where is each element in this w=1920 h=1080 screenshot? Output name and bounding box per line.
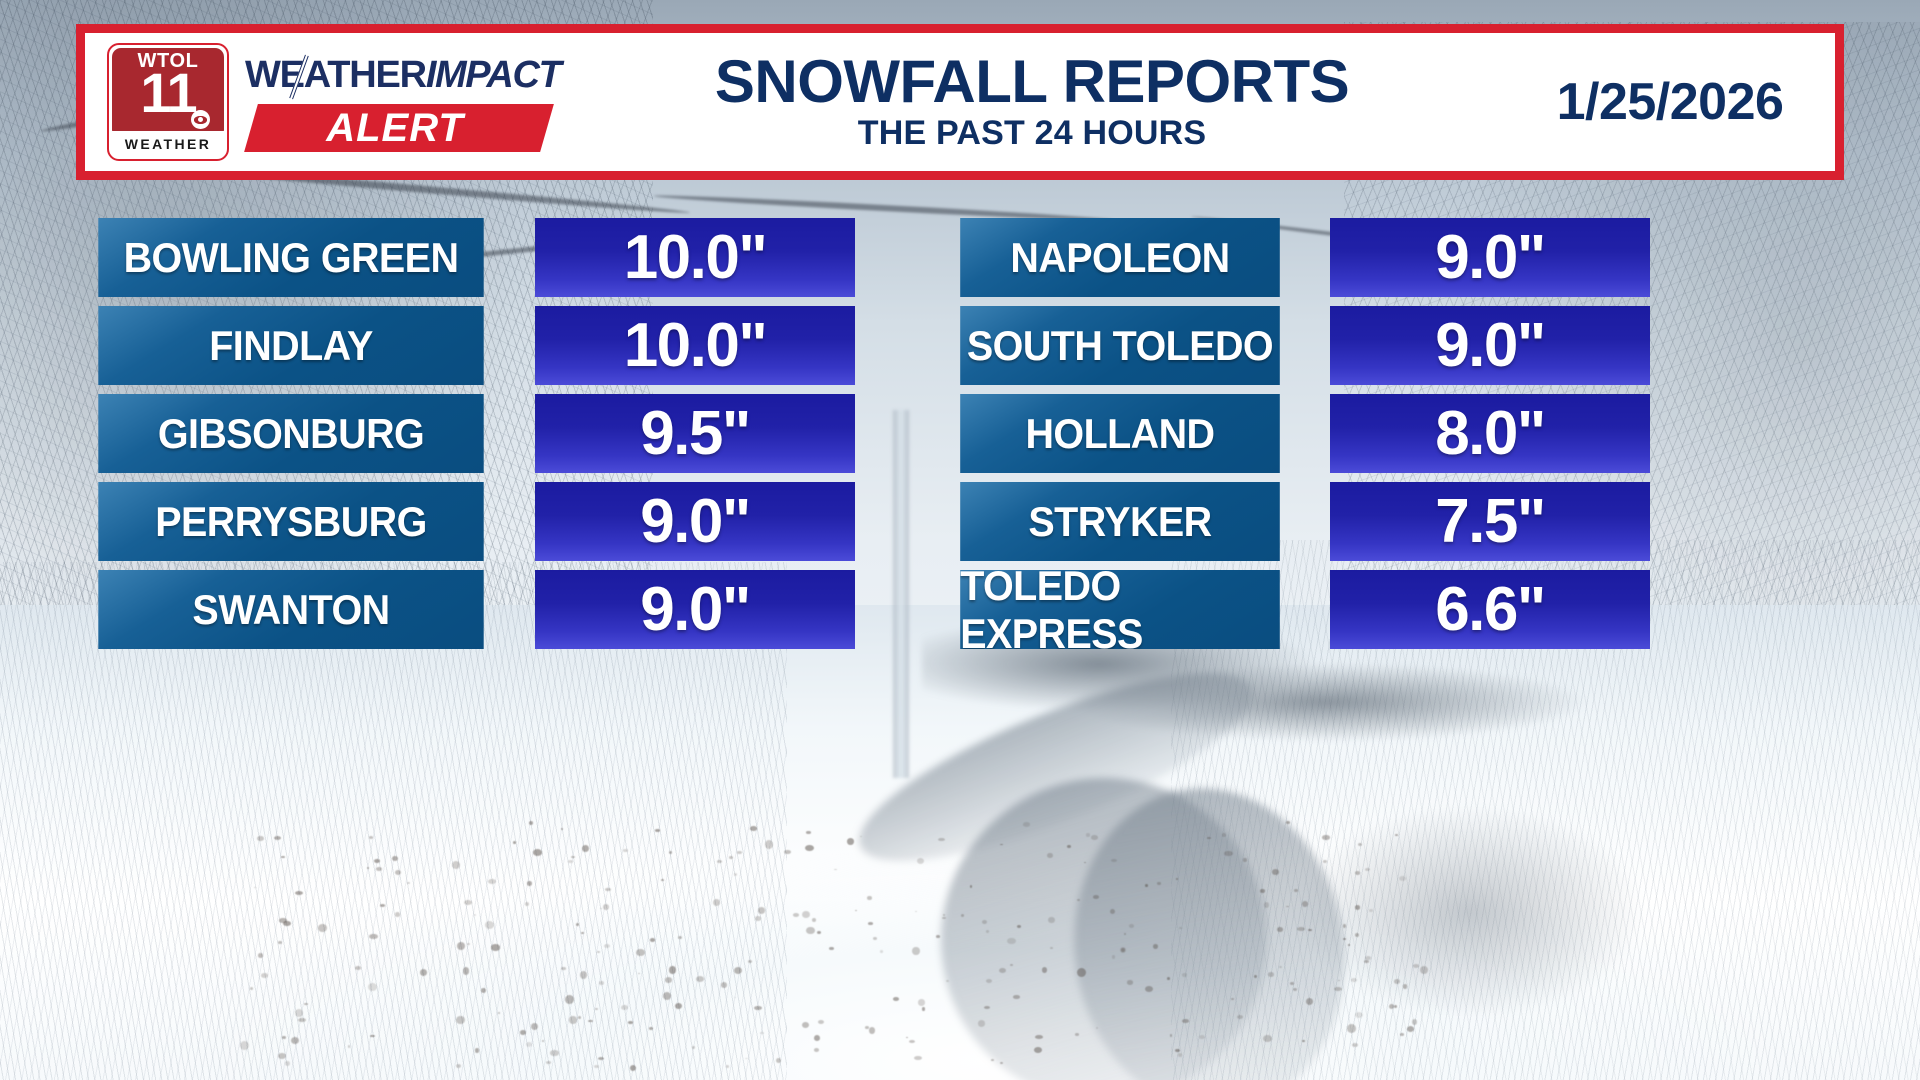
table-row: SWANTON9.0"	[86, 570, 855, 649]
city-label: SOUTH TOLEDO	[960, 306, 1280, 385]
page-title: SNOWFALL REPORTS	[569, 51, 1495, 112]
table-row: HOLLAND8.0"	[950, 394, 1650, 473]
title-block: SNOWFALL REPORTS THE PAST 24 HOURS	[545, 51, 1505, 153]
snowfall-value: 8.0"	[1330, 394, 1650, 473]
snowfall-value: 10.0"	[535, 306, 855, 385]
table-row: PERRYSBURG9.0"	[86, 482, 855, 561]
logo-channel-number: 11	[109, 65, 227, 121]
city-label: SWANTON	[98, 570, 483, 649]
table-row: TOLEDO EXPRESS6.6"	[950, 570, 1650, 649]
city-label: NAPOLEON	[960, 218, 1280, 297]
logo-weather-label: WEATHER	[112, 131, 224, 156]
snowfall-value: 6.6"	[1330, 570, 1650, 649]
table-row: BOWLING GREEN10.0"	[86, 218, 855, 297]
snowfall-value: 9.5"	[535, 394, 855, 473]
brand-weather-word: WEATHER	[245, 54, 426, 96]
snowfall-value: 9.0"	[1330, 218, 1650, 297]
snowfall-value: 9.0"	[1330, 306, 1650, 385]
snowfall-value: 9.0"	[535, 482, 855, 561]
weather-impact-alert-brand: WEATHERIMPACT ALERT	[245, 46, 545, 158]
cbs-eye-icon	[191, 110, 210, 129]
logo-frame: WTOL 11 WEATHER	[107, 43, 229, 161]
city-label: STRYKER	[960, 482, 1280, 561]
snowfall-reports-grid: BOWLING GREEN10.0"FINDLAY10.0"GIBSONBURG…	[0, 218, 1920, 649]
right-report-column: NAPOLEON9.0"SOUTH TOLEDO9.0"HOLLAND8.0"S…	[950, 218, 1650, 649]
snowfall-value: 9.0"	[535, 570, 855, 649]
table-row: GIBSONBURG9.5"	[86, 394, 855, 473]
snowfall-value: 7.5"	[1330, 482, 1650, 561]
city-label: HOLLAND	[960, 394, 1280, 473]
table-row: NAPOLEON9.0"	[950, 218, 1650, 297]
alert-label: ALERT	[245, 106, 545, 150]
report-date: 1/25/2026	[1505, 72, 1835, 132]
table-row: SOUTH TOLEDO9.0"	[950, 306, 1650, 385]
table-row: FINDLAY10.0"	[86, 306, 855, 385]
city-label: BOWLING GREEN	[98, 218, 483, 297]
city-label: GIBSONBURG	[98, 394, 483, 473]
city-label: PERRYSBURG	[98, 482, 483, 561]
header-bar: WTOL 11 WEATHER WEATHERIMPACT ALERT SNOW…	[76, 24, 1844, 180]
table-row: STRYKER7.5"	[950, 482, 1650, 561]
page-subtitle: THE PAST 24 HOURS	[569, 114, 1495, 153]
brand-impact-word: IMPACT	[426, 54, 560, 96]
snowfall-value: 10.0"	[535, 218, 855, 297]
left-report-column: BOWLING GREEN10.0"FINDLAY10.0"GIBSONBURG…	[86, 218, 855, 649]
wtol-11-weather-logo: WTOL 11 WEATHER	[107, 43, 229, 161]
city-label: TOLEDO EXPRESS	[960, 570, 1280, 649]
city-label: FINDLAY	[98, 306, 483, 385]
